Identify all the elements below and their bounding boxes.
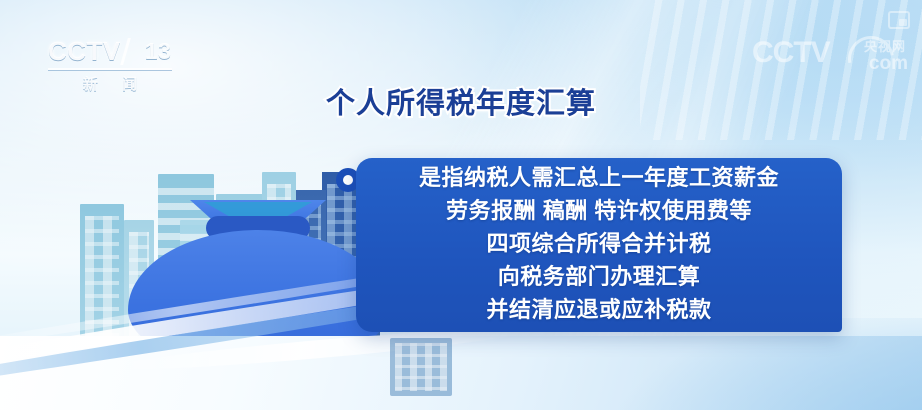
channel-number: 13: [145, 38, 172, 65]
info-panel-line: 向税务部门办理汇算: [498, 261, 701, 293]
info-panel-text: 是指纳税人需汇总上一年度工资薪金 劳务报酬 稿酬 特许权使用费等 四项综合所得合…: [356, 158, 842, 332]
page-title: 个人所得税年度汇算: [0, 80, 922, 122]
info-panel-line: 是指纳税人需汇总上一年度工资薪金: [419, 162, 779, 194]
data-card-rows: [395, 343, 447, 391]
panel-node-core: [343, 175, 353, 185]
watermark: CCTV 央视网 com: [752, 38, 908, 82]
channel-logo-slash: [120, 38, 143, 65]
channel-logo-text: CCTV: [48, 36, 121, 67]
channel-logo-row: CCTV 13: [48, 36, 180, 67]
picture-in-picture-icon: [888, 10, 910, 30]
info-panel-line: 劳务报酬 稿酬 特许权使用费等: [446, 195, 752, 227]
broadcast-screen: CCTV 13 新 闻 CCTV 央视网 com 个人所得税年度汇算 是指纳税人…: [0, 0, 922, 410]
watermark-com-text: com: [869, 53, 908, 75]
channel-logo-underline: [48, 68, 172, 70]
info-panel-line: 四项综合所得合并计税: [486, 228, 711, 260]
info-panel: 是指纳税人需汇总上一年度工资薪金 劳务报酬 稿酬 特许权使用费等 四项综合所得合…: [356, 158, 842, 332]
info-panel-line: 并结清应退或应补税款: [486, 294, 711, 326]
data-card: [390, 338, 452, 396]
bottom-band: [0, 336, 922, 410]
